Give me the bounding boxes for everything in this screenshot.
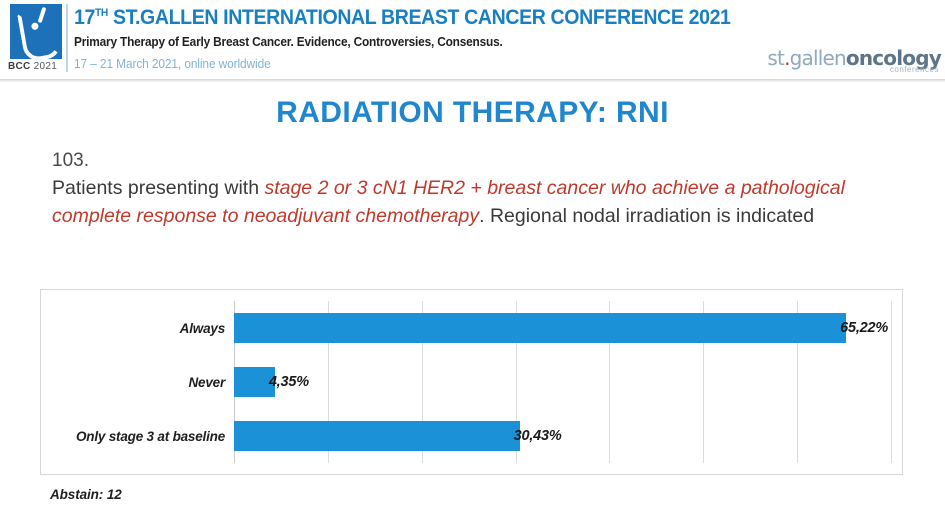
category-label-cell: Only stage 3 at baseline [41,409,229,463]
bar-row: 30,43% [234,409,891,463]
category-label-cell: Never [41,355,229,409]
question-block: 103. Patients presenting with stage 2 or… [52,148,912,230]
bcc-logo-mark [10,4,62,59]
bcc-logo-caption: BCC 2021 [8,61,57,72]
bar-only-stage-3 [234,421,520,451]
header-vertical-divider [66,4,68,72]
conference-subtitle: Primary Therapy of Early Breast Cancer. … [74,35,503,49]
results-bar-chart: Always Never Only stage 3 at baseline 65… [40,289,903,475]
bar-value-never: 4,35% [269,374,309,390]
plot-area: 65,22% 4,35% 30,43% [234,301,891,463]
bar-value-only-stage-3: 30,43% [514,428,562,444]
question-tail: . Regional nodal irradiation is indicate… [479,205,814,227]
conference-ordinal-suffix: TH [95,7,108,19]
category-axis-labels: Always Never Only stage 3 at baseline [41,301,229,463]
category-label-only-stage-3: Only stage 3 at baseline [76,429,229,444]
bar-value-always: 65,22% [840,320,888,336]
conference-title: 17TH ST.GALLEN INTERNATIONAL BREAST CANC… [74,6,731,30]
stgallen-oncology-sublabel: conferences [890,65,939,74]
bar-row: 4,35% [234,355,891,409]
page-title: RADIATION THERAPY: RNI [0,96,945,130]
brand-part-gallen: gallen [790,46,846,70]
conference-ordinal: 17 [74,6,95,29]
bcc-logo-caption-year: 2021 [34,61,57,72]
bar-row: 65,22% [234,301,891,355]
conference-title-rest: ST.GALLEN INTERNATIONAL BREAST CANCER CO… [108,6,731,29]
gridline [891,301,892,463]
question-text: Patients presenting with stage 2 or 3 cN… [52,174,912,230]
conference-dates: 17 – 21 March 2021, online worldwide [74,57,271,71]
chart-bars: 65,22% 4,35% 30,43% [234,301,891,463]
category-label-always: Always [180,321,229,336]
abstain-count: Abstain: 12 [50,487,122,502]
brand-part-st: st [767,46,784,70]
category-label-cell: Always [41,301,229,355]
question-number: 103. [52,148,912,174]
bcc-logo: BCC 2021 [8,4,64,76]
conference-header: BCC 2021 17TH ST.GALLEN INTERNATIONAL BR… [0,0,945,80]
bar-always [234,313,846,343]
stgallen-oncology-logo: st.gallenoncology conferences [767,46,941,70]
bcc-logo-caption-bold: BCC [8,61,31,72]
header-divider [0,79,945,82]
category-label-never: Never [188,375,229,390]
question-lead: Patients presenting with [52,177,264,199]
